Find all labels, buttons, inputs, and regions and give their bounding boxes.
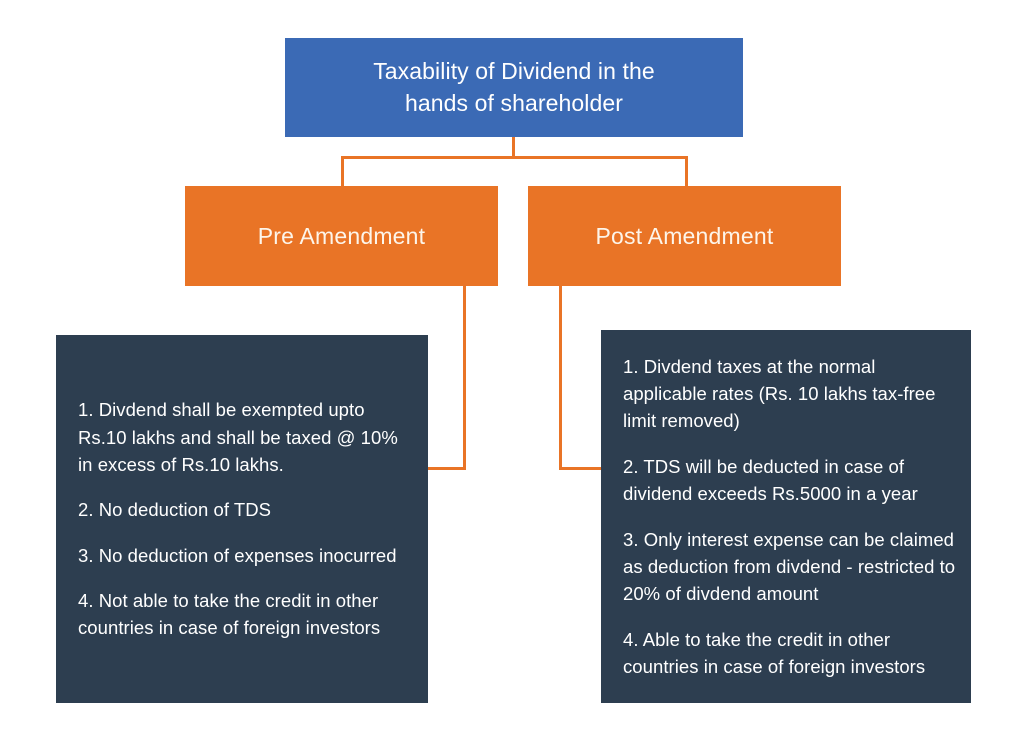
- connector-pre-horizontal: [426, 467, 466, 470]
- panel-post-amendment-points: 1. Divdend taxes at the normal applicabl…: [601, 330, 971, 703]
- connector-drop-pre: [341, 156, 344, 188]
- branch-label-post-amendment: Post Amendment: [596, 223, 774, 250]
- diagram-title-line2: hands of shareholder: [405, 90, 623, 116]
- connector-drop-post: [685, 156, 688, 188]
- connector-horizontal-bar: [341, 156, 688, 159]
- connector-post-horizontal: [559, 467, 604, 470]
- diagram-title-box: Taxability of Dividend in the hands of s…: [285, 38, 743, 137]
- branch-box-pre-amendment: Pre Amendment: [185, 186, 498, 286]
- connector-post-vertical: [559, 285, 562, 470]
- point-item: 1. Divdend taxes at the normal applicabl…: [623, 353, 959, 435]
- branch-label-pre-amendment: Pre Amendment: [258, 223, 426, 250]
- point-item: 4. Able to take the credit in other coun…: [623, 626, 959, 681]
- panel-pre-amendment-points: 1. Divdend shall be exempted upto Rs.10 …: [56, 335, 428, 703]
- branch-box-post-amendment: Post Amendment: [528, 186, 841, 286]
- point-item: 4. Not able to take the credit in other …: [78, 587, 402, 642]
- point-item: 2. No deduction of TDS: [78, 496, 402, 523]
- point-item: 1. Divdend shall be exempted upto Rs.10 …: [78, 396, 402, 478]
- diagram-title-line1: Taxability of Dividend in the: [373, 58, 655, 84]
- point-item: 2. TDS will be deducted in case of divid…: [623, 453, 959, 508]
- connector-pre-vertical: [463, 285, 466, 470]
- point-item: 3. Only interest expense can be claimed …: [623, 526, 959, 608]
- dividend-taxability-diagram: Taxability of Dividend in the hands of s…: [0, 0, 1024, 747]
- diagram-title-text: Taxability of Dividend in the hands of s…: [373, 56, 655, 118]
- point-item: 3. No deduction of expenses inocurred: [78, 542, 402, 569]
